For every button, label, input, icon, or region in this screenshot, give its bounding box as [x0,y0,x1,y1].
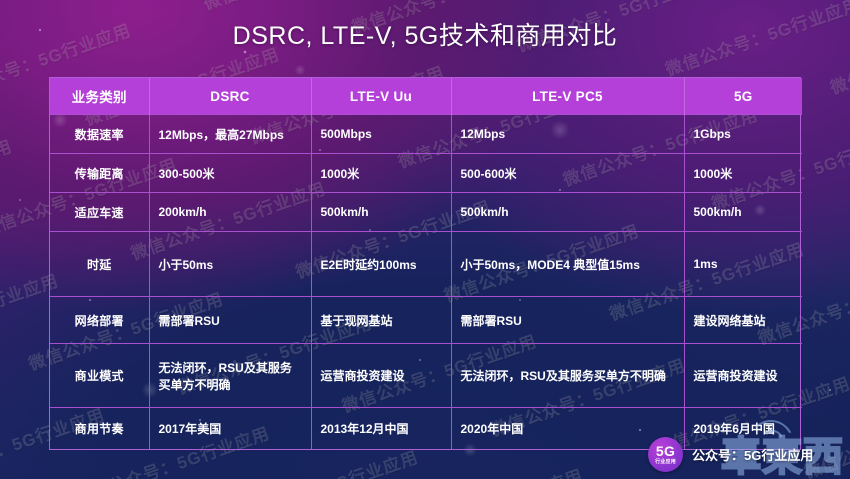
table-row: 网络部署 需部署RSU 基于现网基站 需部署RSU 建设网络基站 [50,297,802,344]
cell-latency-lte-v-uu: E2E时延约100ms [311,232,451,297]
cell-data-rate-lte-v-uu: 500Mbps [311,115,451,154]
col-header-lte-v-uu: LTE-V Uu [311,78,451,115]
cell-commercial-timeline-dsrc: 2017年美国 [149,408,311,450]
cell-network-deploy-lte-v-uu: 基于现网基站 [311,297,451,344]
row-label-speed: 适应车速 [50,193,149,232]
footer: 5G 行业应用 公众号：5G行业应用 [648,437,813,472]
cell-business-model-dsrc: 无法闭环，RSU及其服务买单方不明确 [149,344,311,408]
cell-business-model-5g: 运营商投资建设 [684,344,802,408]
col-header-5g: 5G [684,78,802,115]
slide-canvas: 微信公众号：5G行业应用微信公众号：5G行业应用微信公众号：5G行业应用微信公众… [0,0,850,479]
cell-speed-dsrc: 200km/h [149,193,311,232]
table-body: 数据速率 12Mbps，最高27Mbps 500Mbps 12Mbps 1Gbp… [50,115,802,450]
cell-commercial-timeline-lte-v-uu: 2013年12月中国 [311,408,451,450]
table-row: 适应车速 200km/h 500km/h 500km/h 500km/h [50,193,802,232]
cell-data-rate-dsrc: 12Mbps，最高27Mbps [149,115,311,154]
cell-network-deploy-5g: 建设网络基站 [684,297,802,344]
cell-business-model-lte-v-uu: 运营商投资建设 [311,344,451,408]
table-header-row: 业务类别 DSRC LTE-V Uu LTE-V PC5 5G [50,78,802,115]
col-header-category: 业务类别 [50,78,149,115]
cell-data-rate-5g: 1Gbps [684,115,802,154]
cell-range-dsrc: 300-500米 [149,154,311,193]
cell-range-5g: 1000米 [684,154,802,193]
5g-badge-main-label: 5G [656,444,675,458]
5g-badge-icon: 5G 行业应用 [648,437,683,472]
footer-account-text: 公众号：5G行业应用 [692,445,813,464]
table-row: 时延 小于50ms E2E时延约100ms 小于50ms，MODE4 典型值15… [50,232,802,297]
cell-speed-5g: 500km/h [684,193,802,232]
table-row: 数据速率 12Mbps，最高27Mbps 500Mbps 12Mbps 1Gbp… [50,115,802,154]
row-label-network-deploy: 网络部署 [50,297,149,344]
comparison-table: 业务类别 DSRC LTE-V Uu LTE-V PC5 5G 数据速率 12M… [49,77,801,450]
row-label-data-rate: 数据速率 [50,115,149,154]
cell-latency-5g: 1ms [684,232,802,297]
row-label-commercial-timeline: 商用节奏 [50,408,149,450]
col-header-lte-v-pc5: LTE-V PC5 [451,78,684,115]
cell-speed-lte-v-pc5: 500km/h [451,193,684,232]
row-label-business-model: 商业模式 [50,344,149,408]
cell-range-lte-v-pc5: 500-600米 [451,154,684,193]
row-label-latency: 时延 [50,232,149,297]
table-row: 商业模式 无法闭环，RSU及其服务买单方不明确 运营商投资建设 无法闭环，RSU… [50,344,802,408]
cell-latency-lte-v-pc5: 小于50ms，MODE4 典型值15ms [451,232,684,297]
5g-badge-sub-label: 行业应用 [655,460,676,465]
table-header: 业务类别 DSRC LTE-V Uu LTE-V PC5 5G [50,78,802,115]
col-header-dsrc: DSRC [149,78,311,115]
comparison-table-element: 业务类别 DSRC LTE-V Uu LTE-V PC5 5G 数据速率 12M… [50,78,802,449]
row-label-range: 传输距离 [50,154,149,193]
cell-speed-lte-v-uu: 500km/h [311,193,451,232]
page-title: DSRC, LTE-V, 5G技术和商用对比 [0,16,850,52]
cell-business-model-lte-v-pc5: 无法闭环，RSU及其服务买单方不明确 [451,344,684,408]
cell-latency-dsrc: 小于50ms [149,232,311,297]
cell-network-deploy-dsrc: 需部署RSU [149,297,311,344]
cell-range-lte-v-uu: 1000米 [311,154,451,193]
cell-network-deploy-lte-v-pc5: 需部署RSU [451,297,684,344]
table-row: 传输距离 300-500米 1000米 500-600米 1000米 [50,154,802,193]
cell-data-rate-lte-v-pc5: 12Mbps [451,115,684,154]
